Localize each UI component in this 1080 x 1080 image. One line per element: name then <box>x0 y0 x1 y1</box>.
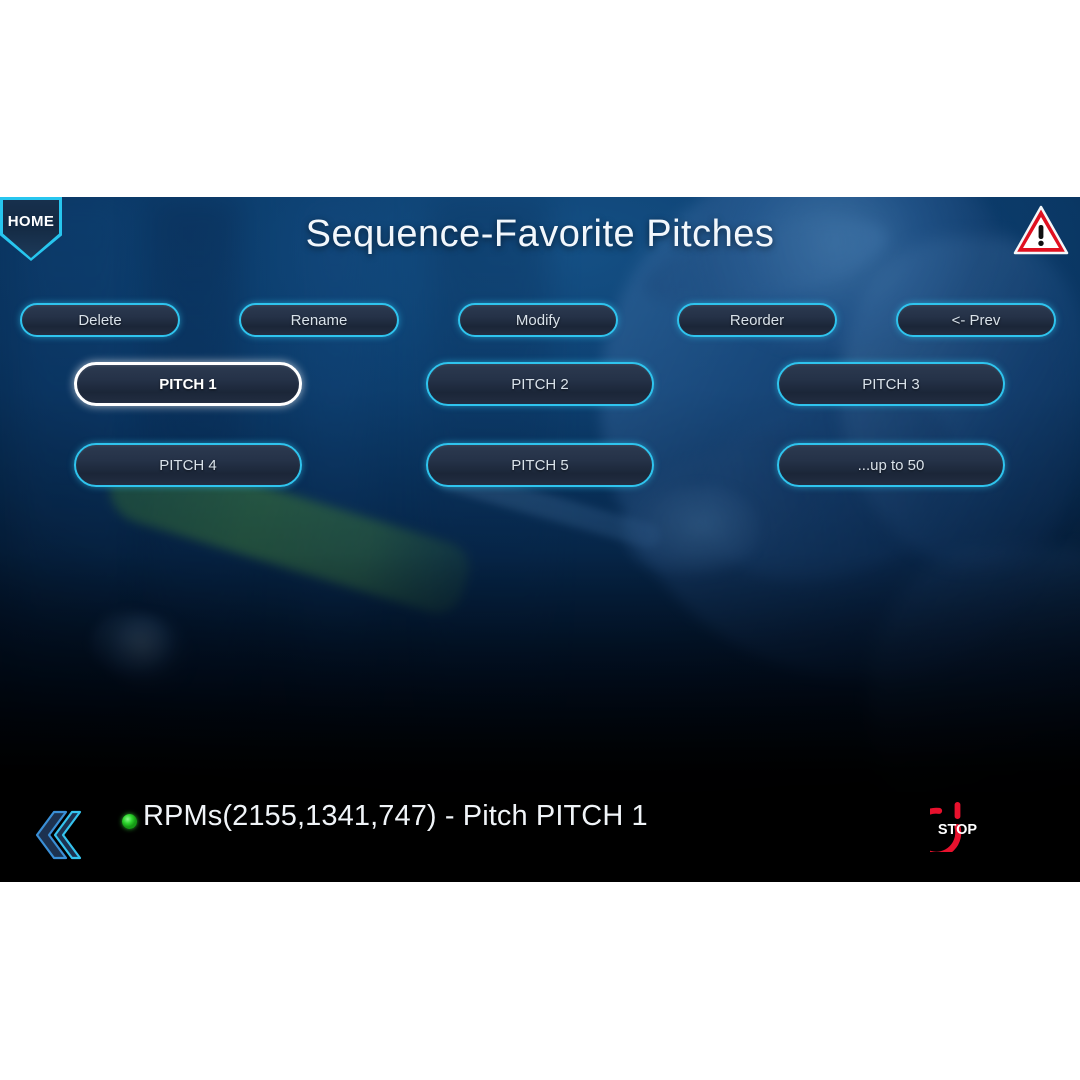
power-stop-icon: STOP <box>930 797 985 852</box>
app-screen: HOME Sequence-Favorite Pitches Delete Re… <box>0 197 1080 882</box>
reorder-button-label: Reorder <box>730 312 784 329</box>
pitch-button-5-label: PITCH 5 <box>511 457 569 474</box>
background-vignette <box>0 197 1080 882</box>
stop-button[interactable]: STOP <box>930 797 985 852</box>
reorder-button[interactable]: Reorder <box>677 303 837 337</box>
pitch-button-3[interactable]: PITCH 3 <box>777 362 1005 406</box>
pitch-button-more-label: ...up to 50 <box>858 457 925 474</box>
pitch-button-more[interactable]: ...up to 50 <box>777 443 1005 487</box>
pitch-button-4-label: PITCH 4 <box>159 457 217 474</box>
pitch-button-2[interactable]: PITCH 2 <box>426 362 654 406</box>
svg-text:STOP: STOP <box>938 822 978 838</box>
back-arrow-svg <box>28 809 86 861</box>
double-chevron-left-icon[interactable] <box>28 809 86 861</box>
warning-triangle-svg <box>1010 201 1072 261</box>
pitch-button-3-label: PITCH 3 <box>862 376 920 393</box>
pitch-button-1-label: PITCH 1 <box>159 376 217 393</box>
rename-button[interactable]: Rename <box>239 303 399 337</box>
page-title: Sequence-Favorite Pitches <box>0 213 1080 256</box>
warning-triangle-icon[interactable] <box>1010 201 1072 261</box>
delete-button[interactable]: Delete <box>20 303 180 337</box>
pitch-button-5[interactable]: PITCH 5 <box>426 443 654 487</box>
prev-button-label: <- Prev <box>952 312 1001 329</box>
status-text: RPMs(2155,1341,747) - Pitch PITCH 1 <box>143 800 648 833</box>
status-bar: RPMs(2155,1341,747) - Pitch PITCH 1 STOP <box>0 792 1080 882</box>
status-indicator-dot <box>122 814 137 829</box>
pitch-button-1[interactable]: PITCH 1 <box>74 362 302 406</box>
prev-button[interactable]: <- Prev <box>896 303 1056 337</box>
pitch-button-2-label: PITCH 2 <box>511 376 569 393</box>
delete-button-label: Delete <box>78 312 121 329</box>
modify-button[interactable]: Modify <box>458 303 618 337</box>
rename-button-label: Rename <box>291 312 348 329</box>
pitch-button-4[interactable]: PITCH 4 <box>74 443 302 487</box>
modify-button-label: Modify <box>516 312 560 329</box>
